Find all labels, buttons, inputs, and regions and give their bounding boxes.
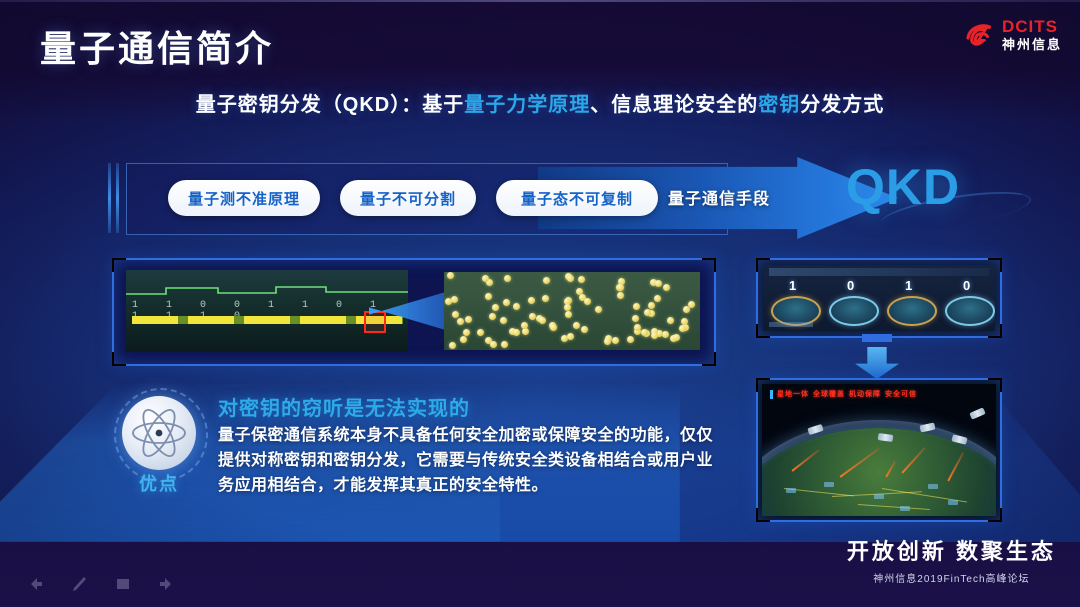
red-selection-box-icon: [364, 311, 386, 333]
principle-pill-1[interactable]: 量子测不准原理: [168, 180, 320, 216]
device-screen: 1 0 1 0: [763, 265, 995, 331]
subtitle-highlight2: 密钥: [758, 94, 800, 116]
photon-dot: [681, 318, 688, 325]
ground-node-4: [928, 484, 938, 489]
photon-dot: [561, 335, 568, 342]
photon-dot: [449, 342, 456, 349]
signal-yellow-track: [132, 316, 403, 324]
photon-dot: [521, 322, 528, 329]
monitor-stand: [862, 334, 892, 342]
photon-dot: [490, 341, 497, 348]
subtitle-part1: 量子密钥分发（QKD）：基于: [196, 94, 464, 116]
qkd-result-text: QKD: [846, 158, 960, 216]
signal-photon-panel: 1 1 0 0 1 1 0 1 1 1 1 0: [112, 258, 716, 366]
advantage-heading: 对密钥的窃听是无法实现的: [218, 392, 470, 421]
photon-field-image: [444, 272, 700, 350]
photon-dot: [651, 332, 658, 339]
top-hairline: [0, 0, 1080, 2]
photon-dot: [667, 317, 674, 324]
photon-dot: [673, 334, 680, 341]
band-arrow-label: 量子通信手段: [668, 185, 770, 209]
device-bit-3: 1: [905, 278, 912, 293]
photon-dot: [489, 313, 496, 320]
photon-dot: [482, 275, 489, 282]
map-tag-4: 安全可信: [885, 389, 917, 399]
photon-dot: [567, 275, 574, 282]
corner-bracket-tl: [112, 258, 126, 272]
corner-bracket-br: [702, 352, 716, 366]
photon-dot: [662, 331, 669, 338]
badge-circle: [122, 396, 196, 470]
photon-dot: [567, 333, 574, 340]
photon-dot: [654, 295, 661, 302]
map-tag-1: 星地一体: [777, 389, 809, 399]
square-icon[interactable]: [114, 575, 132, 593]
photon-dot: [528, 297, 535, 304]
footer-event: 神州信息2019FinTech高峰论坛: [847, 570, 1056, 585]
principle-pill-3[interactable]: 量子态不可复制: [496, 180, 658, 216]
photon-dot: [655, 280, 662, 287]
device-footer-strip: [769, 322, 813, 327]
dcits-swirl-icon: [965, 20, 995, 50]
ground-node-5: [948, 500, 958, 505]
atom-icon: [122, 396, 196, 470]
photon-dot: [522, 328, 529, 335]
satellite-network-panel: 星地一体 全球覆盖 机动保障 安全可信: [756, 378, 1002, 522]
photon-dot: [550, 324, 557, 331]
map-tag-3: 机动保障: [849, 389, 881, 399]
advantage-badge-label: 优点: [122, 470, 196, 496]
photon-dot: [447, 272, 454, 279]
logo-wordmark: DCITS: [1002, 18, 1062, 35]
pen-icon[interactable]: [70, 575, 88, 593]
network-map-image: 星地一体 全球覆盖 机动保障 安全可信: [762, 384, 996, 516]
advantage-body-text: 量子保密通信系统本身不具备任何安全加密或保障安全的功能，仅仅提供对称密钥和密钥分…: [218, 424, 718, 498]
band-edge-line-2: [116, 163, 119, 233]
map-tag-2: 全球覆盖: [813, 389, 845, 399]
advantage-badge: [122, 396, 196, 470]
photon-dot: [578, 276, 585, 283]
photon-dot: [463, 329, 470, 336]
photon-dot: [641, 329, 648, 336]
device-bit-4: 0: [963, 278, 970, 293]
ground-node-1: [786, 488, 796, 493]
photon-dot: [513, 303, 520, 310]
ground-node-2: [824, 482, 834, 487]
map-header-tags: 星地一体 全球覆盖 机动保障 安全可信: [770, 389, 917, 399]
photon-dot: [584, 298, 591, 305]
photon-dot: [504, 275, 511, 282]
device-header-strip: [769, 268, 989, 276]
photon-dot: [573, 322, 580, 329]
footer-slogan: 开放创新 数聚生态: [847, 534, 1056, 566]
arrow-left-icon[interactable]: [26, 575, 44, 593]
photon-dot: [457, 318, 464, 325]
ground-node-3: [874, 494, 884, 499]
photon-dot: [617, 292, 624, 299]
presentation-toolbar[interactable]: [26, 575, 176, 593]
slide-root: 量子通信简介 DCITS 神州信息 量子密钥分发（QKD）：基于量子力学原理、信…: [0, 0, 1080, 607]
principle-pill-2[interactable]: 量子不可分割: [340, 180, 476, 216]
brand-logo: DCITS 神州信息: [965, 18, 1062, 51]
photon-dot: [688, 301, 695, 308]
photon-dot: [648, 302, 655, 309]
device-bit-1: 1: [789, 278, 796, 293]
photon-dot: [452, 311, 459, 318]
photon-dot: [679, 325, 686, 332]
photon-dot: [542, 295, 549, 302]
photon-dot: [501, 341, 508, 348]
photon-dot: [543, 277, 550, 284]
photon-dot: [500, 317, 507, 324]
logo-chinese-name: 神州信息: [1002, 38, 1062, 51]
band-edge-line-1: [108, 163, 111, 233]
detector-device-panel: 1 0 1 0: [756, 258, 1002, 338]
photon-dot: [485, 293, 492, 300]
ground-node-6: [900, 506, 910, 511]
photon-dot: [612, 337, 619, 344]
photon-dot: [564, 304, 571, 311]
photon-dot: [644, 309, 651, 316]
device-gauge-4: [945, 296, 995, 326]
photon-dot: [565, 311, 572, 318]
principles-band: 量子测不准原理 量子不可分割 量子态不可复制 量子通信手段: [108, 157, 908, 239]
subtitle-highlight1: 量子力学原理: [464, 94, 590, 116]
photon-dot: [595, 306, 602, 313]
corner-bracket-tr: [702, 258, 716, 272]
page-title: 量子通信简介: [40, 20, 274, 72]
photon-dot: [460, 336, 467, 343]
device-bit-2: 0: [847, 278, 854, 293]
photon-dot: [627, 336, 634, 343]
corner-bracket-bl: [112, 352, 126, 366]
footer: 开放创新 数聚生态 神州信息2019FinTech高峰论坛: [847, 534, 1056, 585]
photon-dot: [632, 315, 639, 322]
subtitle: 量子密钥分发（QKD）：基于量子力学原理、信息理论安全的密钥分发方式: [0, 88, 1080, 117]
photon-dot: [663, 284, 670, 291]
subtitle-part2: 、信息理论安全的: [590, 94, 758, 116]
photon-dot: [604, 338, 611, 345]
photon-dot: [633, 303, 640, 310]
photon-dot: [513, 329, 520, 336]
device-gauge-3: [887, 296, 937, 326]
oscilloscope-image: 1 1 0 0 1 1 0 1 1 1 1 0: [126, 270, 408, 352]
photon-dot: [617, 284, 624, 291]
photon-dot: [581, 326, 588, 333]
photon-dot: [492, 304, 499, 311]
photon-dot: [503, 299, 510, 306]
photon-dot: [451, 296, 458, 303]
photon-dot: [539, 317, 546, 324]
device-gauge-2: [829, 296, 879, 326]
arrow-right-icon[interactable]: [158, 575, 176, 593]
subtitle-part3: 分发方式: [800, 94, 884, 116]
photon-dot: [529, 313, 536, 320]
photon-dot: [477, 329, 484, 336]
map-tag-marker-icon: [770, 390, 773, 399]
waveform-icon: [126, 284, 408, 298]
photon-dot: [465, 316, 472, 323]
